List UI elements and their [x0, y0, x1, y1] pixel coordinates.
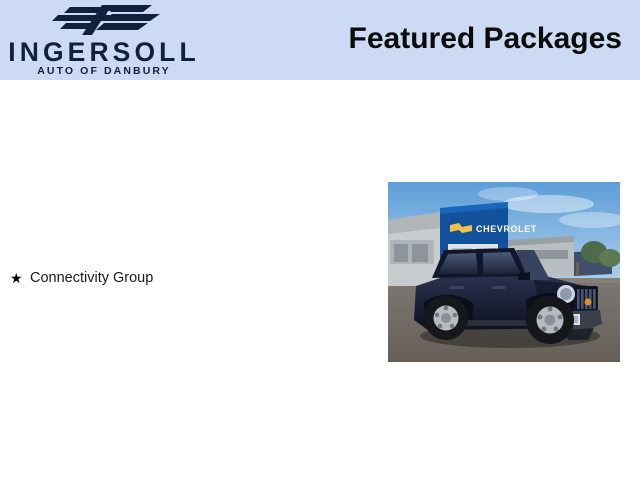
package-label: Connectivity Group — [30, 268, 153, 288]
page-title: Featured Packages — [349, 21, 622, 57]
dealer-logo-wordmark: INGERSOLL — [8, 39, 200, 66]
list-item: ★ Connectivity Group — [0, 268, 320, 290]
vehicle-photo: CHEVROLET — [388, 182, 620, 362]
dealer-logo[interactable]: INGERSOLL AUTO OF DANBURY — [8, 2, 200, 78]
ingersoll-winged-f-emblem-icon — [48, 3, 163, 37]
dealer-logo-tagline: AUTO OF DANBURY — [8, 66, 200, 77]
star-bullet-icon: ★ — [10, 268, 30, 288]
featured-packages-list: ★ Connectivity Group — [0, 268, 320, 290]
svg-text:CHEVROLET: CHEVROLET — [476, 224, 537, 234]
page-header: INGERSOLL AUTO OF DANBURY Featured Packa… — [0, 0, 640, 80]
